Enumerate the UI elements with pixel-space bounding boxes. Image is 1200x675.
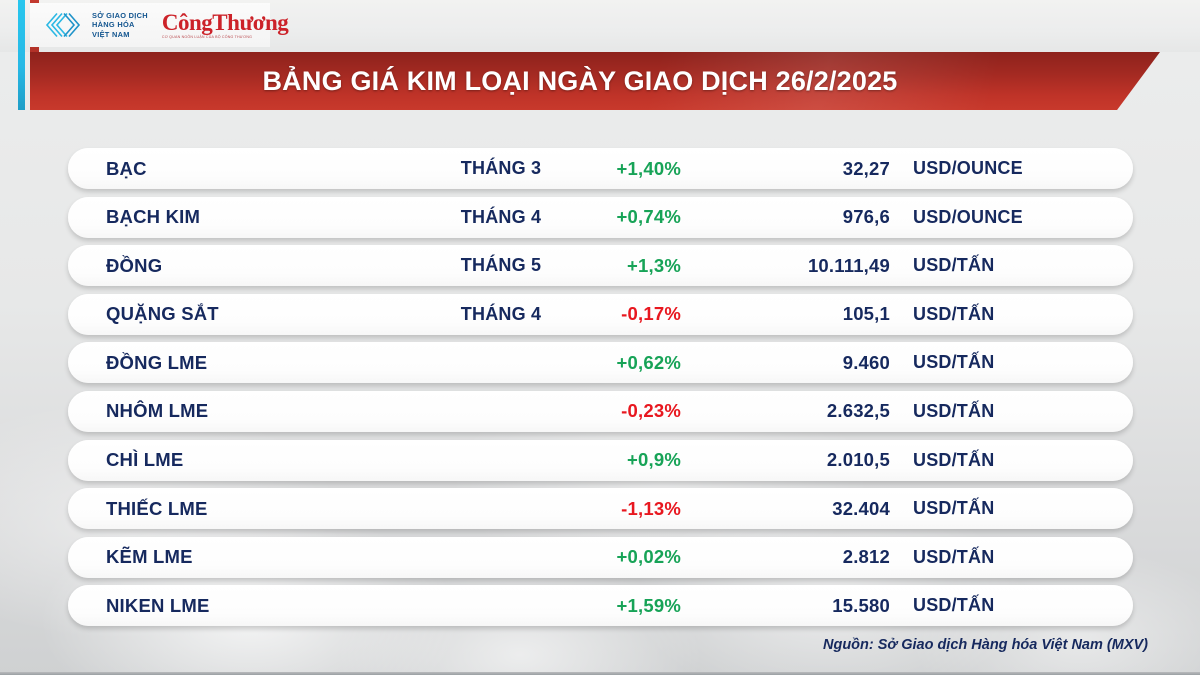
row-unit: USD/OUNCE xyxy=(913,158,1023,179)
page-title: BẢNG GIÁ KIM LOẠI NGÀY GIAO DỊCH 26/2/20… xyxy=(262,66,897,97)
table-row: BẠCTHÁNG 3+1,40%32,27USD/OUNCE xyxy=(68,148,1133,189)
top-bar: SỞ GIAO DỊCH HÀNG HÓA VIỆT NAM CôngThươn… xyxy=(0,0,1200,52)
table-row: QUẶNG SẮTTHÁNG 4-0,17%105,1USD/TẤN xyxy=(68,294,1133,335)
table-row: THIẾC LME-1,13%32.404USD/TẤN xyxy=(68,488,1133,529)
row-unit: USD/OUNCE xyxy=(913,207,1023,228)
row-unit: USD/TẤN xyxy=(913,595,994,616)
row-change-percent: -0,17% xyxy=(468,303,681,325)
row-unit: USD/TẤN xyxy=(913,547,994,568)
row-change-percent: -1,13% xyxy=(468,498,681,520)
row-metal-name: ĐỒNG LME xyxy=(106,352,207,374)
row-change-percent: +0,74% xyxy=(468,206,681,228)
table-row: NHÔM LME-0,23%2.632,5USD/TẤN xyxy=(68,391,1133,432)
row-change-percent: +1,59% xyxy=(468,595,681,617)
row-metal-name: KẼM LME xyxy=(106,546,193,568)
row-change-percent: -0,23% xyxy=(468,400,681,422)
row-metal-name: NIKEN LME xyxy=(106,595,210,617)
row-unit: USD/TẤN xyxy=(913,450,994,471)
congthuong-logo: CôngThương CƠ QUAN NGÔN LUẬN CỦA BỘ CÔNG… xyxy=(162,11,288,40)
row-change-percent: +0,9% xyxy=(468,449,681,471)
congthuong-tagline: CƠ QUAN NGÔN LUẬN CỦA BỘ CÔNG THƯƠNG xyxy=(162,35,288,40)
table-row: NIKEN LME+1,59%15.580USD/TẤN xyxy=(68,585,1133,626)
row-metal-name: BẠCH KIM xyxy=(106,206,200,228)
row-change-percent: +0,02% xyxy=(468,546,681,568)
table-row: BẠCH KIMTHÁNG 4+0,74%976,6USD/OUNCE xyxy=(68,197,1133,238)
row-price: 32.404 xyxy=(708,498,890,520)
table-row: ĐỒNG LME+0,62%9.460USD/TẤN xyxy=(68,342,1133,383)
row-unit: USD/TẤN xyxy=(913,498,994,519)
table-row: KẼM LME+0,02%2.812USD/TẤN xyxy=(68,537,1133,578)
row-unit: USD/TẤN xyxy=(913,401,994,422)
logo-plate: SỞ GIAO DỊCH HÀNG HÓA VIỆT NAM CôngThươn… xyxy=(30,3,270,47)
table-row: CHÌ LME+0,9%2.010,5USD/TẤN xyxy=(68,440,1133,481)
metal-price-table: BẠCTHÁNG 3+1,40%32,27USD/OUNCEBẠCH KIMTH… xyxy=(68,148,1133,634)
row-price: 9.460 xyxy=(708,352,890,374)
row-metal-name: ĐỒNG xyxy=(106,255,162,277)
congthuong-wordmark: CôngThương xyxy=(162,11,288,34)
row-metal-name: THIẾC LME xyxy=(106,498,208,520)
row-price: 2.632,5 xyxy=(708,400,890,422)
row-price: 15.580 xyxy=(708,595,890,617)
logo-org-line-1: SỞ GIAO DỊCH xyxy=(92,11,148,20)
row-change-percent: +0,62% xyxy=(468,352,681,374)
table-row: ĐỒNGTHÁNG 5+1,3%10.111,49USD/TẤN xyxy=(68,245,1133,286)
logo-org-line-3: VIỆT NAM xyxy=(92,30,130,39)
row-change-percent: +1,3% xyxy=(468,255,681,277)
row-unit: USD/TẤN xyxy=(913,304,994,325)
row-metal-name: NHÔM LME xyxy=(106,400,208,422)
row-metal-name: CHÌ LME xyxy=(106,449,183,471)
logo-org-line-2: HÀNG HÓA xyxy=(92,20,135,29)
source-attribution: Nguồn: Sở Giao dịch Hàng hóa Việt Nam (M… xyxy=(823,637,1148,653)
row-unit: USD/TẤN xyxy=(913,352,994,373)
row-change-percent: +1,40% xyxy=(468,158,681,180)
row-price: 2.812 xyxy=(708,546,890,568)
row-price: 105,1 xyxy=(708,303,890,325)
row-price: 2.010,5 xyxy=(708,449,890,471)
row-metal-name: BẠC xyxy=(106,158,147,180)
logo-org-name: SỞ GIAO DỊCH HÀNG HÓA VIỆT NAM xyxy=(92,11,148,39)
row-price: 976,6 xyxy=(708,206,890,228)
accent-bar-cyan xyxy=(18,0,25,110)
mxv-chevron-logo-icon xyxy=(42,10,84,40)
row-price: 32,27 xyxy=(708,158,890,180)
title-banner: BẢNG GIÁ KIM LOẠI NGÀY GIAO DỊCH 26/2/20… xyxy=(30,52,1160,110)
price-board-page: SỞ GIAO DỊCH HÀNG HÓA VIỆT NAM CôngThươn… xyxy=(0,0,1200,675)
row-unit: USD/TẤN xyxy=(913,255,994,276)
row-metal-name: QUẶNG SẮT xyxy=(106,303,219,325)
row-price: 10.111,49 xyxy=(708,255,890,277)
